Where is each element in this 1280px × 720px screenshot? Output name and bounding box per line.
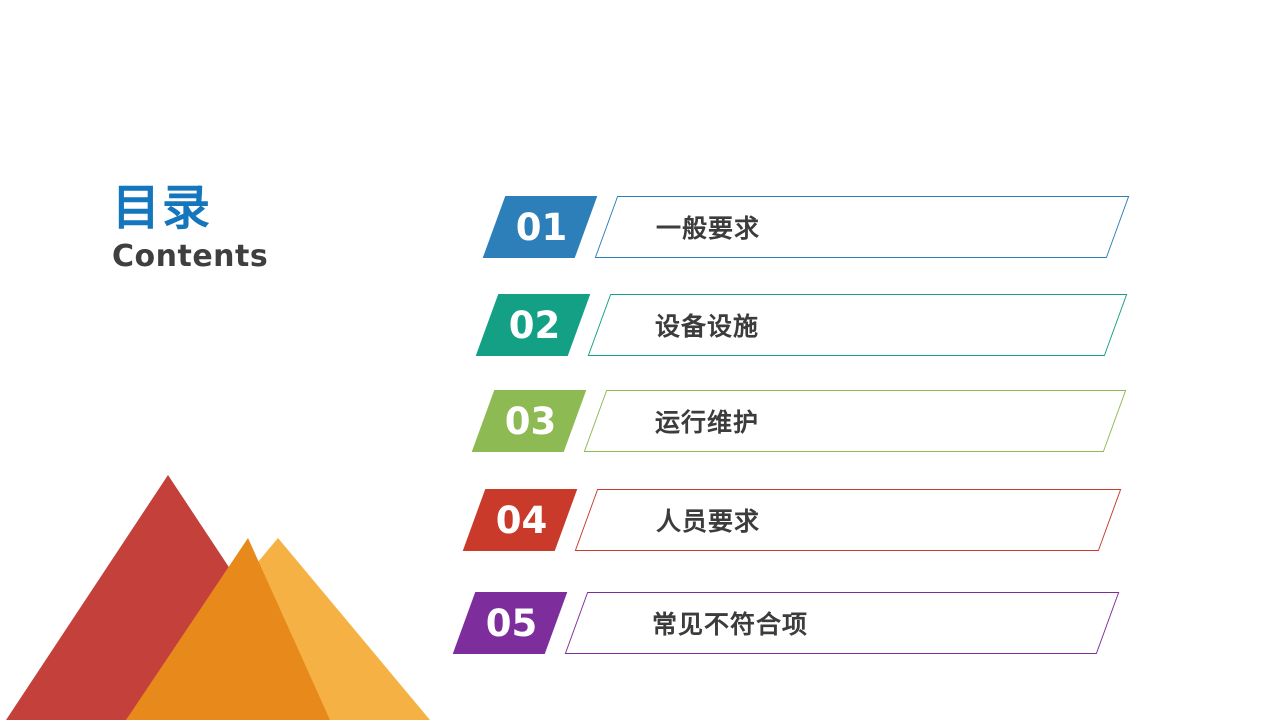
agenda-title-1: 一般要求 <box>656 196 760 258</box>
agenda-title-2: 设备设施 <box>655 294 759 356</box>
agenda-title-4: 人员要求 <box>656 489 760 551</box>
agenda-list: 01 一般要求 02 设备设施 03 运行维护 04 人员要求 05 常见不符合… <box>0 0 1280 720</box>
agenda-title-5: 常见不符合项 <box>652 592 808 654</box>
agenda-number-4: 04 <box>474 489 566 551</box>
agenda-title-3: 运行维护 <box>655 390 759 452</box>
agenda-number-5: 05 <box>464 592 556 654</box>
agenda-title-plate-5 <box>565 592 1120 654</box>
agenda-number-3: 03 <box>483 390 575 452</box>
agenda-number-2: 02 <box>487 294 579 356</box>
agenda-number-1: 01 <box>494 196 586 258</box>
